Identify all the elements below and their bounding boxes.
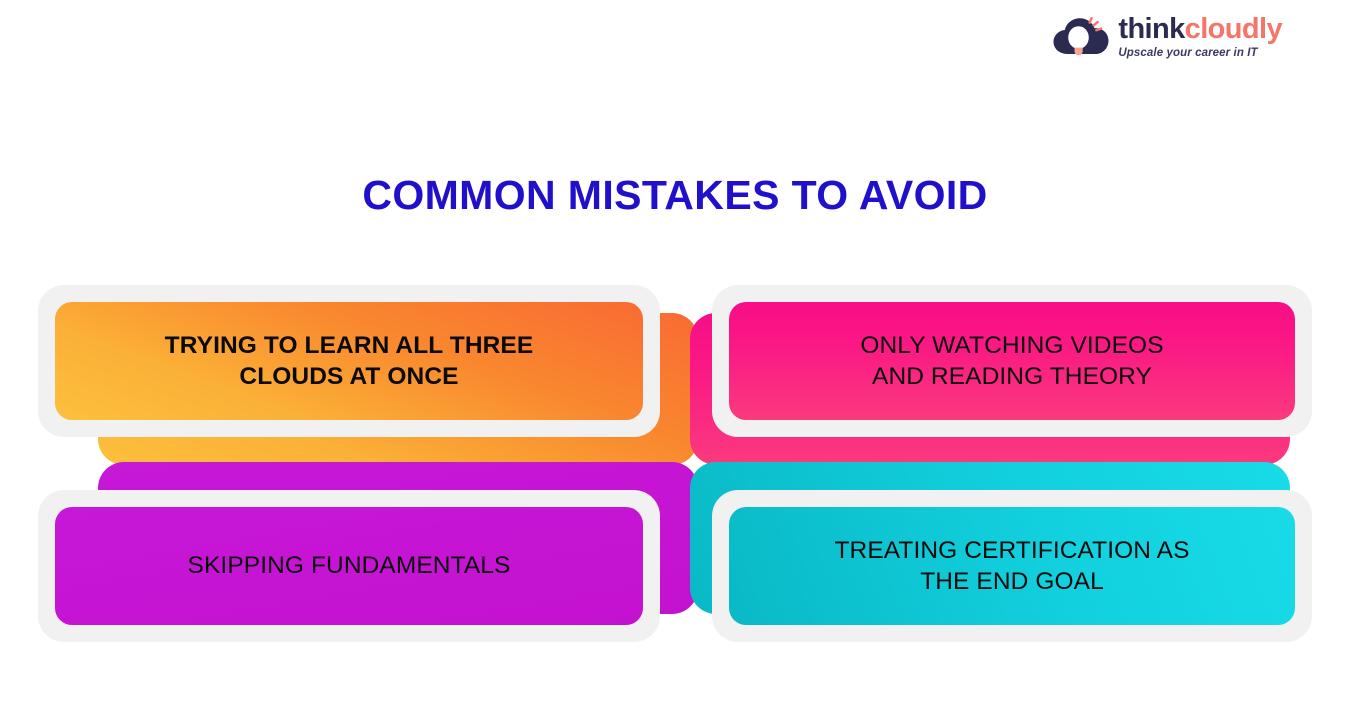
card-body: ONLY WATCHING VIDEOS AND READING THEORY bbox=[729, 302, 1295, 420]
card-body: TREATING CERTIFICATION AS THE END GOAL bbox=[729, 507, 1295, 625]
card-label: TRYING TO LEARN ALL THREE CLOUDS AT ONCE bbox=[165, 330, 534, 393]
mistake-card-3[interactable]: SKIPPING FUNDAMENTALS bbox=[38, 490, 660, 642]
card-body: SKIPPING FUNDAMENTALS bbox=[55, 507, 643, 625]
mistake-card-1[interactable]: TRYING TO LEARN ALL THREE CLOUDS AT ONCE bbox=[38, 285, 660, 437]
mistake-card-grid: TRYING TO LEARN ALL THREE CLOUDS AT ONCE… bbox=[0, 0, 1350, 705]
mistake-card-2[interactable]: ONLY WATCHING VIDEOS AND READING THEORY bbox=[712, 285, 1312, 437]
card-body: TRYING TO LEARN ALL THREE CLOUDS AT ONCE bbox=[55, 302, 643, 420]
card-label: SKIPPING FUNDAMENTALS bbox=[188, 550, 511, 581]
card-label: TREATING CERTIFICATION AS THE END GOAL bbox=[834, 535, 1189, 598]
mistake-card-4[interactable]: TREATING CERTIFICATION AS THE END GOAL bbox=[712, 490, 1312, 642]
card-label: ONLY WATCHING VIDEOS AND READING THEORY bbox=[860, 330, 1163, 393]
